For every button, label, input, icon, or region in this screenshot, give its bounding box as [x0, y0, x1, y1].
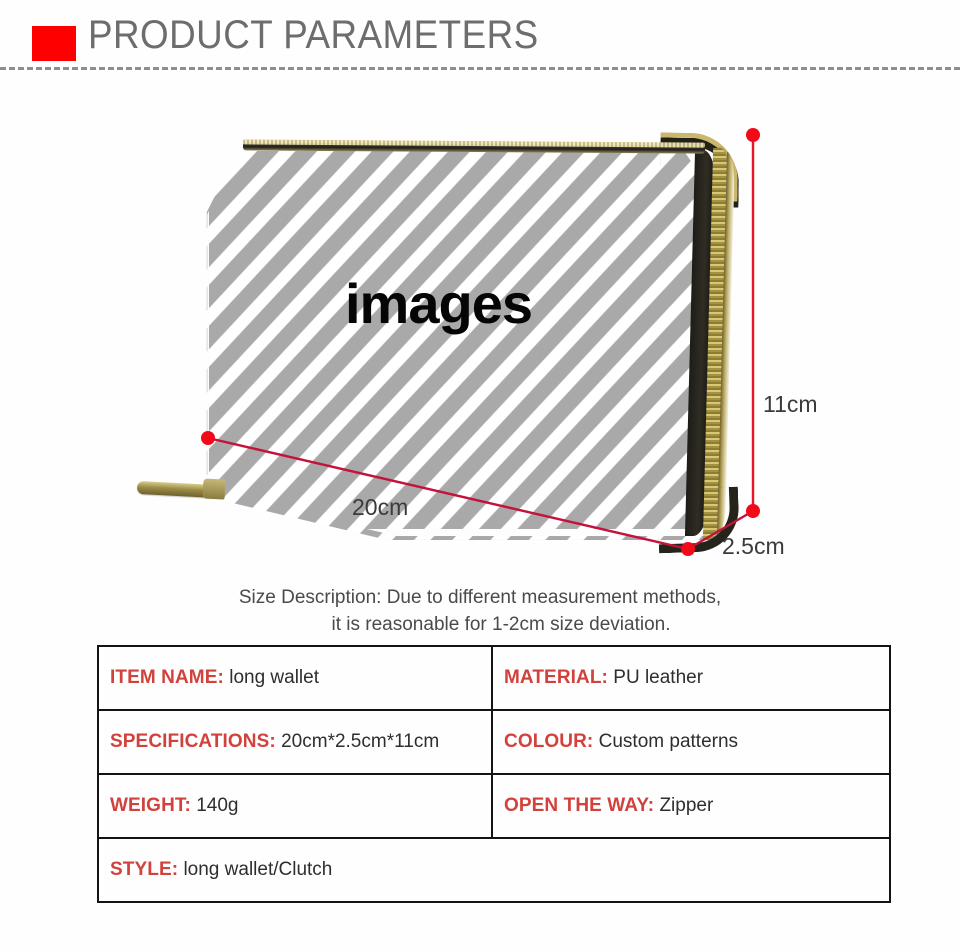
cell-value: 140g	[196, 795, 238, 816]
dimension-label-height: 11cm	[763, 391, 818, 418]
table-row: SPECIFICATIONS: 20cm*2.5cm*11cm COLOUR: …	[98, 710, 890, 774]
size-description-line-1: Size Description: Due to different measu…	[239, 587, 721, 608]
table-cell-material: MATERIAL: PU leather	[492, 646, 890, 710]
page-title: PRODUCT PARAMETERS	[88, 13, 539, 58]
header-divider	[0, 67, 960, 70]
cell-value: PU leather	[613, 667, 703, 688]
dimension-point-left	[201, 431, 215, 445]
cell-label: STYLE:	[110, 859, 178, 880]
cell-label: OPEN THE WAY:	[504, 795, 654, 816]
cell-label: ITEM NAME:	[110, 667, 224, 688]
red-square-icon	[32, 26, 76, 61]
table-cell-colour: COLOUR: Custom patterns	[492, 710, 890, 774]
table-cell-weight: WEIGHT: 140g	[98, 774, 492, 838]
product-image-area: images 11cm 20cm 2.5cm	[0, 78, 960, 578]
table-row: ITEM NAME: long wallet MATERIAL: PU leat…	[98, 646, 890, 710]
dimension-point-right	[746, 504, 760, 518]
table-row: STYLE: long wallet/Clutch	[98, 838, 890, 902]
dimension-overlay	[0, 78, 960, 578]
cell-value: long wallet/Clutch	[183, 859, 332, 880]
table-row: WEIGHT: 140g OPEN THE WAY: Zipper	[98, 774, 890, 838]
size-description: Size Description: Due to different measu…	[0, 584, 960, 638]
cell-value: Custom patterns	[599, 731, 738, 752]
product-parameters-page: PRODUCT PARAMETERS images	[0, 0, 960, 951]
page-header: PRODUCT PARAMETERS	[0, 0, 960, 72]
dimension-label-depth: 2.5cm	[722, 533, 785, 560]
dimension-label-width: 20cm	[352, 494, 408, 521]
cell-value: long wallet	[229, 667, 319, 688]
table-cell-item-name: ITEM NAME: long wallet	[98, 646, 492, 710]
table-cell-style: STYLE: long wallet/Clutch	[98, 838, 890, 902]
parameters-table: ITEM NAME: long wallet MATERIAL: PU leat…	[97, 645, 891, 903]
cell-label: COLOUR:	[504, 731, 593, 752]
dimension-line-width	[208, 438, 688, 549]
dimension-point-top	[746, 128, 760, 142]
cell-label: MATERIAL:	[504, 667, 608, 688]
cell-value: 20cm*2.5cm*11cm	[281, 731, 439, 752]
size-description-line-2: it is reasonable for 1-2cm size deviatio…	[0, 611, 960, 638]
table-cell-open-the-way: OPEN THE WAY: Zipper	[492, 774, 890, 838]
table-cell-specifications: SPECIFICATIONS: 20cm*2.5cm*11cm	[98, 710, 492, 774]
cell-value: Zipper	[659, 795, 713, 816]
cell-label: SPECIFICATIONS:	[110, 731, 276, 752]
cell-label: WEIGHT:	[110, 795, 191, 816]
dimension-point-bottom	[681, 542, 695, 556]
